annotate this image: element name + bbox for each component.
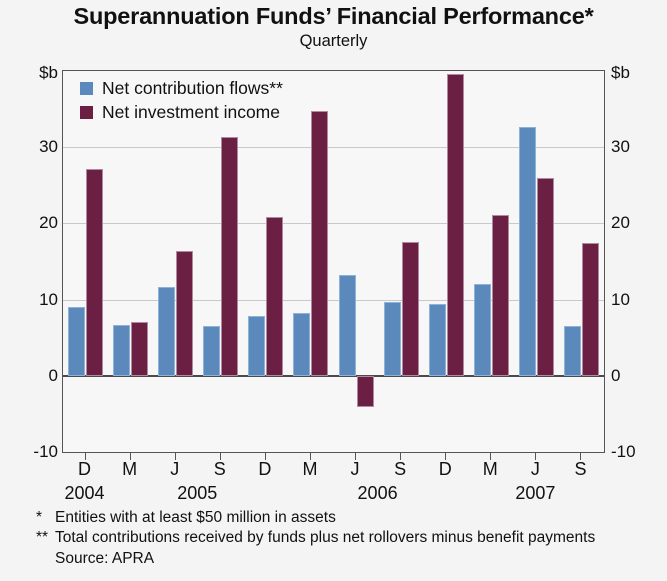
bar-investment-1 <box>131 322 148 375</box>
x-axis-year-label-2007: 2007 <box>500 483 570 504</box>
bar-contribution-2 <box>158 287 175 376</box>
bar-investment-6 <box>357 376 374 407</box>
bar-investment-4 <box>266 217 283 375</box>
legend-item-net-contribution-flows: Net contribution flows** <box>80 76 283 100</box>
title-block: Superannuation Funds’ Financial Performa… <box>0 0 667 50</box>
chart-subtitle: Quarterly <box>0 32 667 50</box>
chart-legend: Net contribution flows** Net investment … <box>80 76 283 124</box>
x-axis-month-label-10: J <box>515 459 555 480</box>
x-axis-month-label-1: M <box>110 459 150 480</box>
x-axis-month-label-6: J <box>335 459 375 480</box>
legend-swatch-blue <box>80 82 93 95</box>
footnotes: *Entities with at least $50 million in a… <box>36 508 661 569</box>
x-axis-month-label-2: J <box>155 459 195 480</box>
y-axis-label-right-0: 0 <box>611 367 620 384</box>
bar-contribution-1 <box>113 325 130 376</box>
bar-contribution-7 <box>384 302 401 376</box>
y-axis-label-right-30: 30 <box>611 138 630 155</box>
y-axis-label-left--10: -10 <box>33 443 58 460</box>
x-axis-year-label-2006: 2006 <box>343 483 413 504</box>
footnote-row: **Total contributions received by funds … <box>36 528 661 548</box>
chart-plot-area <box>62 70 605 453</box>
footnote-marker: * <box>36 508 55 528</box>
bar-investment-0 <box>86 169 103 376</box>
x-axis-month-label-11: S <box>560 459 600 480</box>
y-axis-label-left-10: 10 <box>39 291 58 308</box>
bar-investment-9 <box>492 215 509 376</box>
footnote-text: Total contributions received by funds pl… <box>55 529 595 546</box>
footnote-marker: ** <box>36 528 55 548</box>
bar-contribution-4 <box>248 316 265 376</box>
y-axis-label-right-10: 10 <box>611 291 630 308</box>
bar-contribution-6 <box>339 275 356 376</box>
x-axis-year-label-2005: 2005 <box>162 483 232 504</box>
legend-label-net-contribution-flows: Net contribution flows** <box>102 78 283 99</box>
bar-contribution-3 <box>203 326 220 376</box>
y-axis-label-left-20: 20 <box>39 214 58 231</box>
bar-investment-11 <box>582 243 599 376</box>
y-axis-unit-left: $b <box>39 64 58 81</box>
x-axis-year-label-2004: 2004 <box>50 483 120 504</box>
y-axis-label-left-0: 0 <box>49 367 58 384</box>
x-axis-month-label-0: D <box>65 459 105 480</box>
bar-contribution-9 <box>474 284 491 376</box>
y-axis-label-left-30: 30 <box>39 138 58 155</box>
bar-investment-7 <box>402 242 419 376</box>
y-axis-unit-right: $b <box>611 64 630 81</box>
x-axis-month-label-4: D <box>245 459 285 480</box>
footnote-text: Source: APRA <box>55 550 154 567</box>
y-axis-label-right-20: 20 <box>611 214 630 231</box>
bar-contribution-10 <box>519 127 536 376</box>
bar-investment-10 <box>537 178 554 376</box>
bar-contribution-11 <box>564 326 581 376</box>
page-title: Superannuation Funds’ Financial Performa… <box>0 4 667 29</box>
footnote-source: Source: APRA <box>36 549 661 569</box>
x-axis-month-label-7: S <box>380 459 420 480</box>
bar-investment-8 <box>447 74 464 376</box>
x-axis-month-label-5: M <box>290 459 330 480</box>
bar-contribution-0 <box>68 307 85 376</box>
bar-investment-3 <box>221 137 238 376</box>
legend-swatch-maroon <box>80 106 93 119</box>
x-axis-month-label-9: M <box>470 459 510 480</box>
bar-investment-2 <box>176 251 193 376</box>
x-axis-month-label-8: D <box>425 459 465 480</box>
bar-contribution-8 <box>429 304 446 376</box>
legend-item-net-investment-income: Net investment income <box>80 100 283 124</box>
bar-contribution-5 <box>293 313 310 375</box>
footnote-row: *Entities with at least $50 million in a… <box>36 508 661 528</box>
bar-investment-5 <box>311 111 328 376</box>
legend-label-net-investment-income: Net investment income <box>102 102 280 123</box>
footnote-text: Entities with at least $50 million in as… <box>55 509 336 526</box>
x-axis-month-label-3: S <box>200 459 240 480</box>
y-axis-label-right--10: -10 <box>611 443 636 460</box>
